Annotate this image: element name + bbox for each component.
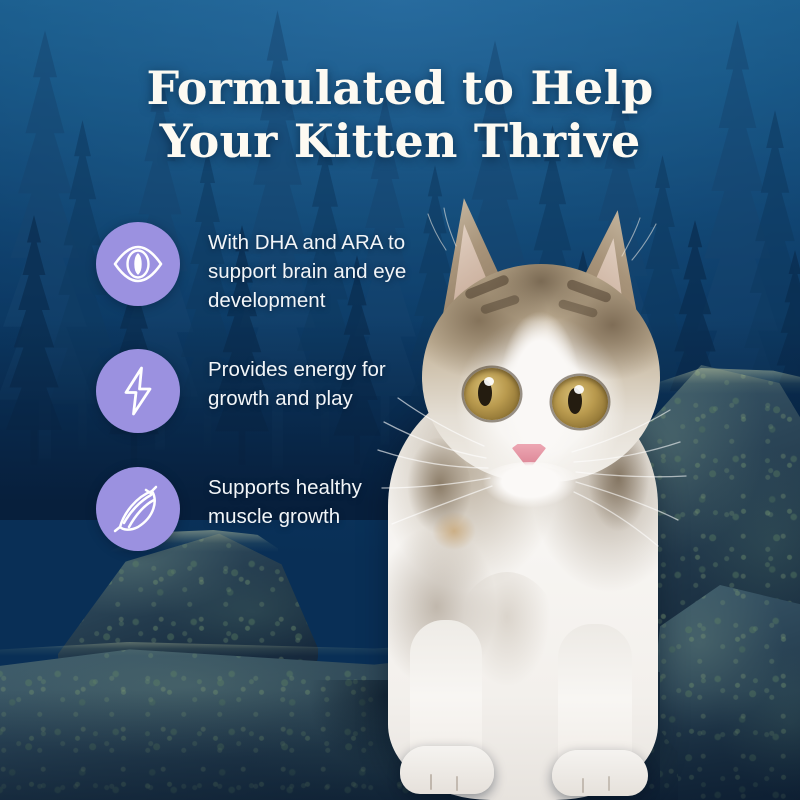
benefit-item-energy: Provides energy for growth and play [96, 349, 476, 433]
page-headline: Formulated to Help Your Kitten Thrive [0, 62, 800, 169]
benefit-icon-circle [96, 467, 180, 551]
promo-image: Formulated to Help Your Kitten Thrive Wi… [0, 0, 800, 800]
headline-line-2: Your Kitten Thrive [120, 115, 680, 168]
kitten-paw-right [552, 750, 648, 796]
muscle-fiber-icon [112, 483, 164, 535]
benefit-item-muscle: Supports healthy muscle growth [96, 467, 476, 551]
benefit-text: With DHA and ARA to support brain and ey… [208, 222, 476, 315]
benefit-icon-circle [96, 349, 180, 433]
benefit-icon-circle [96, 222, 180, 306]
lightning-bolt-icon [121, 366, 155, 416]
kitten-paw-left [400, 746, 494, 794]
benefit-text: Supports healthy muscle growth [208, 467, 476, 531]
benefit-list: With DHA and ARA to support brain and ey… [96, 222, 476, 585]
benefit-item-brain-eye: With DHA and ARA to support brain and ey… [96, 222, 476, 315]
cat-eye-icon [112, 244, 164, 284]
benefit-text: Provides energy for growth and play [208, 349, 476, 413]
headline-line-1: Formulated to Help [120, 62, 680, 115]
